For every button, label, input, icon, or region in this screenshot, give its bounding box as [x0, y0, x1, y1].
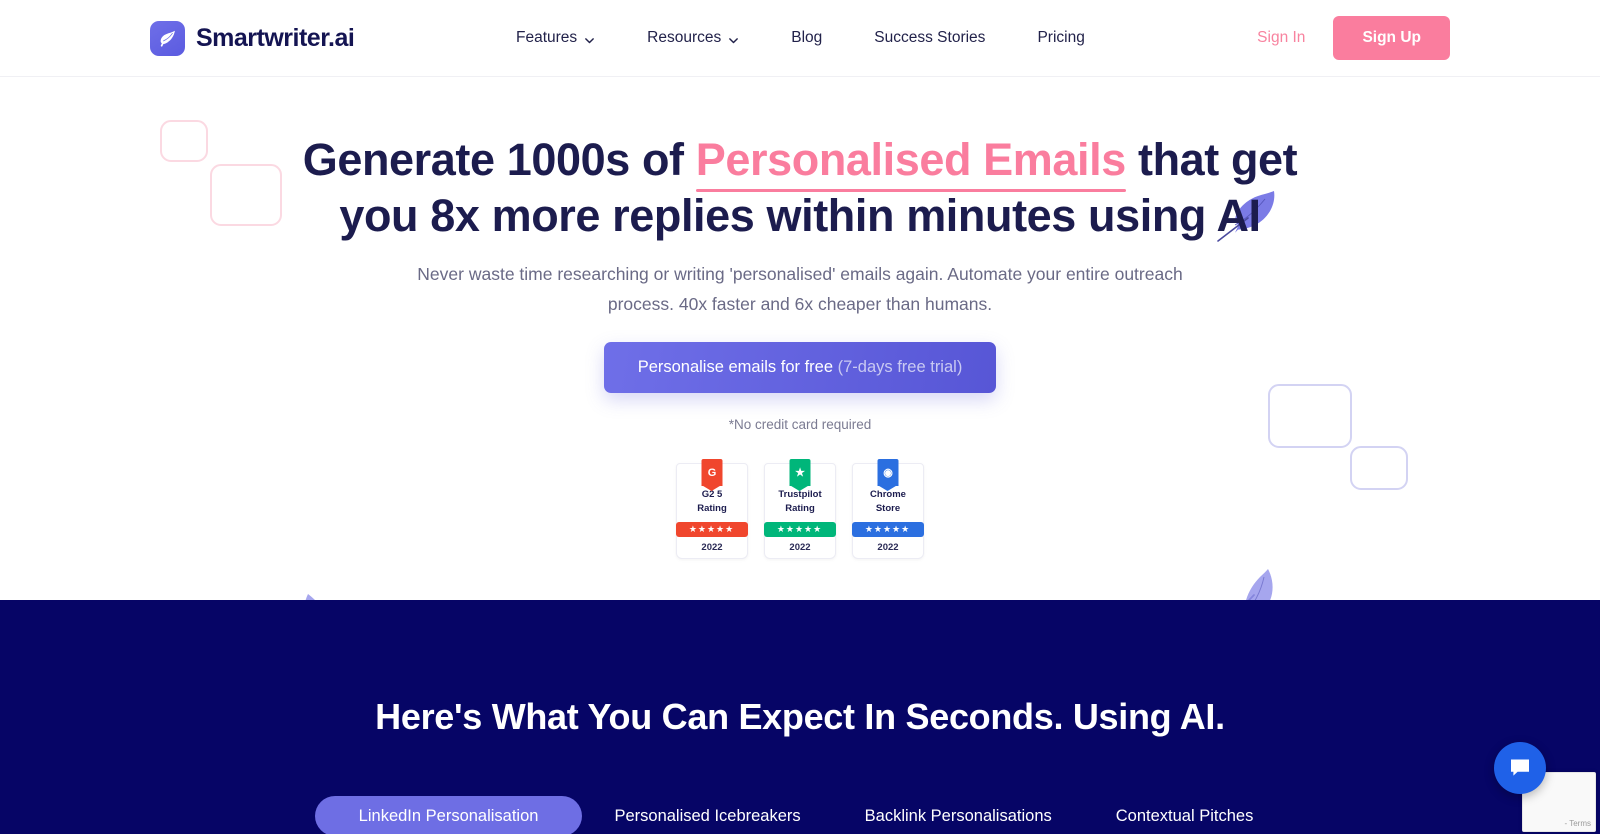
- badge-stars-trustpilot: ★★★★★: [764, 522, 836, 537]
- badge-title-g2: G2 5 Rating: [697, 488, 727, 517]
- chrome-glyph: ◉: [883, 466, 893, 479]
- rating-badge-chrome-store[interactable]: ◉ Chrome Store ★★★★★ 2022: [852, 463, 924, 559]
- headline-part-2: that get: [1126, 134, 1297, 185]
- sign-up-button[interactable]: Sign Up: [1333, 16, 1450, 60]
- hero-section: Generate 1000s of Personalised Emails th…: [0, 77, 1600, 600]
- badge-year-g2: 2022: [701, 542, 722, 553]
- badge-stars-chrome-store: ★★★★★: [852, 522, 924, 537]
- badge-stars-g2: ★★★★★: [676, 522, 748, 537]
- badge-year-chrome-store: 2022: [877, 542, 898, 553]
- g2-glyph: G: [708, 467, 717, 479]
- rating-badges: G G2 5 Rating ★★★★★ 2022 ★ Trustpilot Ra…: [0, 463, 1600, 559]
- rating-badge-g2[interactable]: G G2 5 Rating ★★★★★ 2022: [676, 463, 748, 559]
- personalise-emails-button[interactable]: Personalise emails for free (7-days free…: [604, 342, 997, 393]
- chat-bubble-icon: [1507, 754, 1533, 783]
- nav-item-features[interactable]: Features: [490, 29, 621, 47]
- subheadline-line-2: process. 40x faster and 6x cheaper than …: [350, 289, 1250, 319]
- no-credit-card-note: *No credit card required: [0, 417, 1600, 432]
- nav-item-success-stories[interactable]: Success Stories: [848, 29, 1011, 47]
- badge-title-trustpilot: Trustpilot Rating: [778, 488, 821, 517]
- site-header: Smartwriter.ai Features Resources Blog S…: [0, 0, 1600, 77]
- nav-item-blog[interactable]: Blog: [765, 29, 848, 47]
- trustpilot-logo-icon: ★: [790, 459, 811, 486]
- headline-line-2: you 8x more replies within minutes using…: [0, 188, 1600, 244]
- chevron-down-icon: [728, 33, 739, 44]
- nav-label-pricing: Pricing: [1037, 29, 1084, 47]
- nav-label-blog: Blog: [791, 29, 822, 47]
- tab-linkedin-personalisation[interactable]: LinkedIn Personalisation: [315, 796, 583, 834]
- feather-decoration-bottom-right: [1192, 559, 1284, 600]
- nav-label-features: Features: [516, 29, 577, 47]
- auth-actions: Sign In Sign Up: [1257, 16, 1450, 60]
- decorative-square-purple-1: [1268, 384, 1352, 448]
- g2-logo-icon: G: [702, 459, 723, 486]
- cta-sub-label: (7-days free trial): [838, 358, 963, 376]
- badge-title-line2-g2: Rating: [697, 502, 727, 516]
- badge-year-trustpilot: 2022: [789, 542, 810, 553]
- chat-widget-button[interactable]: [1494, 742, 1546, 794]
- feather-quill-icon: [150, 21, 185, 56]
- cta-main-label: Personalise emails for free: [638, 358, 838, 376]
- main-nav: Features Resources Blog Success Stories …: [490, 29, 1111, 47]
- chrome-store-logo-icon: ◉: [878, 459, 899, 486]
- chevron-down-icon: [584, 33, 595, 44]
- rating-badge-trustpilot[interactable]: ★ Trustpilot Rating ★★★★★ 2022: [764, 463, 836, 559]
- tab-backlink-personalisations[interactable]: Backlink Personalisations: [833, 796, 1084, 834]
- tab-personalised-icebreakers[interactable]: Personalised Icebreakers: [582, 796, 832, 834]
- headline-part-1: Generate 1000s of: [303, 134, 696, 185]
- hero-cta-wrap: Personalise emails for free (7-days free…: [0, 342, 1600, 393]
- subheadline-line-1: Never waste time researching or writing …: [350, 259, 1250, 289]
- expect-section-tabs: LinkedIn Personalisation Personalised Ic…: [0, 796, 1600, 834]
- logo[interactable]: Smartwriter.ai: [150, 21, 354, 56]
- feather-decoration-bottom-left: [288, 582, 372, 600]
- recaptcha-terms-link[interactable]: - Terms: [1564, 819, 1591, 828]
- hero-headline: Generate 1000s of Personalised Emails th…: [0, 132, 1600, 245]
- nav-item-pricing[interactable]: Pricing: [1011, 29, 1110, 47]
- expect-section: Here's What You Can Expect In Seconds. U…: [0, 600, 1600, 834]
- headline-accent: Personalised Emails: [696, 134, 1126, 185]
- badge-title-line2-trustpilot: Rating: [778, 502, 821, 516]
- sign-in-link[interactable]: Sign In: [1257, 29, 1305, 47]
- hero-subheadline: Never waste time researching or writing …: [350, 259, 1250, 319]
- nav-item-resources[interactable]: Resources: [621, 29, 765, 47]
- nav-label-resources: Resources: [647, 29, 721, 47]
- expect-section-title: Here's What You Can Expect In Seconds. U…: [0, 696, 1600, 738]
- landing-page: Smartwriter.ai Features Resources Blog S…: [0, 0, 1600, 834]
- logo-text: Smartwriter.ai: [196, 24, 354, 53]
- badge-title-line2-chrome: Store: [870, 502, 906, 516]
- nav-label-success-stories: Success Stories: [874, 29, 985, 47]
- tab-contextual-pitches[interactable]: Contextual Pitches: [1084, 796, 1286, 834]
- badge-title-chrome-store: Chrome Store: [870, 488, 906, 517]
- trustpilot-glyph: ★: [795, 466, 805, 479]
